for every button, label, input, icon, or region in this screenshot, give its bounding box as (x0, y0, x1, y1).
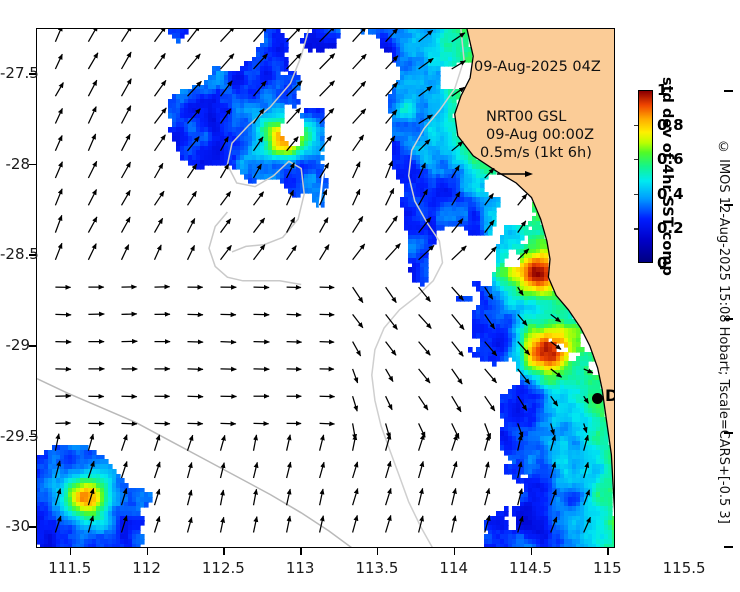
current-vector (188, 517, 192, 532)
x-axis-label: 115.5 (663, 559, 706, 577)
current-vector (188, 191, 197, 205)
current-vector (287, 190, 294, 205)
current-vector (353, 435, 356, 451)
current-vector (320, 54, 335, 69)
current-vector (122, 462, 127, 479)
map-overlay (37, 29, 615, 548)
current-vector (55, 314, 71, 315)
current-vector (551, 314, 561, 322)
outer-tick-5 (724, 546, 733, 548)
current-vector (452, 192, 460, 206)
x-axis-label: 112 (132, 559, 161, 577)
current-vector (188, 164, 197, 178)
x-axis-label: 112.5 (202, 559, 245, 577)
current-vector (287, 342, 302, 343)
x-tick (531, 548, 533, 555)
current-vector (353, 342, 361, 356)
current-vector (122, 52, 132, 69)
colorbar-tick (634, 228, 638, 229)
current-vector (320, 435, 324, 451)
current-vector (254, 29, 268, 42)
current-vector (254, 164, 262, 178)
current-vector (155, 108, 167, 124)
isobath-1000m (372, 29, 464, 548)
current-vector (254, 137, 264, 151)
current-vector (188, 219, 195, 233)
current-vector (386, 110, 397, 124)
current-vector (452, 435, 457, 451)
source-line-1: NRT00 GSL (486, 109, 566, 125)
x-axis-label: 114 (439, 559, 468, 577)
current-vector (419, 342, 431, 356)
source-line-3: 0.5m/s (1kt 6h) (480, 145, 592, 161)
current-vector (55, 83, 63, 97)
current-vector (518, 287, 524, 295)
dongara-marker-icon (592, 393, 603, 404)
current-vector (485, 396, 495, 411)
current-vector (518, 462, 522, 478)
current-vector (221, 29, 235, 42)
current-vector (551, 462, 555, 478)
dongara-label: Dongara (605, 386, 615, 405)
current-vector (452, 423, 459, 438)
current-vector (551, 435, 555, 451)
current-vector (122, 29, 132, 42)
current-vector (188, 81, 202, 96)
current-vector (254, 245, 265, 260)
colorbar-gradient (638, 90, 653, 263)
current-vector (122, 435, 127, 451)
current-vector (188, 54, 201, 69)
current-vector (155, 489, 160, 505)
current-vector (452, 369, 463, 384)
current-vector (155, 245, 162, 260)
current-vector (320, 489, 323, 505)
current-vector (584, 396, 589, 403)
current-vector (353, 314, 363, 327)
current-vector (551, 369, 562, 377)
current-vector (221, 517, 224, 532)
current-vector (254, 435, 257, 451)
current-vector (518, 314, 527, 325)
current-vector (452, 165, 460, 178)
current-vector (55, 136, 62, 151)
current-vector (188, 137, 200, 151)
isobath-1000m (37, 379, 353, 548)
current-vector (419, 163, 426, 178)
current-vector (518, 435, 522, 451)
current-vector (584, 490, 590, 505)
current-vector (386, 461, 391, 478)
current-vector (551, 342, 561, 350)
current-vector (386, 342, 396, 356)
current-vector (122, 217, 131, 233)
y-tick (29, 526, 36, 528)
current-vector (584, 462, 588, 478)
current-vector (320, 163, 329, 178)
current-vector (122, 162, 131, 178)
current-vector (55, 108, 62, 123)
outer-tick-3 (724, 318, 733, 320)
current-vector (88, 488, 93, 505)
current-vector (386, 216, 398, 233)
current-vector (188, 109, 201, 124)
x-tick (300, 548, 302, 555)
colorbar[interactable] (638, 90, 653, 263)
current-vector (122, 516, 127, 533)
current-vector (386, 515, 391, 532)
current-vector (485, 462, 489, 478)
current-vector (122, 314, 137, 315)
current-vector (419, 190, 428, 206)
current-vector (320, 29, 336, 42)
current-vector (122, 423, 138, 424)
current-vector (320, 245, 329, 260)
current-vector (485, 314, 495, 328)
current-vector (155, 163, 163, 178)
current-vector (88, 29, 97, 42)
current-vector (221, 423, 236, 424)
y-axis-label: -27.5 (0, 64, 30, 82)
current-vector (518, 221, 526, 233)
current-vector (419, 58, 434, 69)
current-vector (353, 109, 366, 124)
x-tick (607, 548, 609, 555)
current-vector (584, 435, 588, 451)
current-vector (353, 515, 358, 532)
current-vector (320, 109, 334, 124)
current-vector (419, 140, 430, 151)
current-vector (254, 218, 265, 233)
current-vector (55, 461, 60, 478)
current-vector (88, 516, 93, 533)
current-vector (353, 162, 360, 178)
current-vector (485, 369, 497, 383)
current-vector (551, 423, 554, 434)
current-vector (386, 314, 398, 329)
current-vector (551, 396, 558, 406)
current-vector (188, 245, 195, 259)
y-tick (29, 345, 36, 347)
current-vector (518, 249, 529, 260)
current-vector (353, 244, 365, 260)
current-vector (221, 81, 233, 96)
current-vector (386, 244, 401, 260)
current-vector (386, 369, 393, 382)
x-tick (454, 548, 456, 555)
current-vector (584, 369, 593, 373)
y-axis-label: -30 (0, 517, 30, 535)
current-vector (386, 188, 394, 205)
current-vector (287, 108, 301, 124)
current-vector (221, 219, 231, 233)
y-axis-label: -28.5 (0, 245, 30, 263)
current-vector (386, 56, 398, 69)
current-vector (353, 396, 358, 411)
current-vector (518, 489, 522, 506)
current-vector (353, 81, 366, 96)
current-vector (122, 190, 131, 205)
current-vector (452, 314, 464, 329)
current-vector (386, 29, 398, 42)
current-vector (452, 33, 465, 42)
current-vector (55, 243, 62, 260)
source-line-2: 09-Aug 00:00Z (486, 127, 594, 143)
current-vector (419, 30, 433, 41)
y-tick (29, 164, 36, 166)
current-vector (254, 462, 258, 478)
current-vector (353, 135, 364, 151)
current-vector (88, 107, 96, 124)
current-vector (155, 218, 163, 232)
current-vector (518, 516, 523, 532)
current-vector (254, 517, 257, 533)
x-tick (377, 548, 379, 555)
current-vector (122, 79, 132, 97)
current-vector (518, 194, 527, 205)
current-vector (353, 489, 358, 506)
current-vector (320, 516, 324, 533)
x-tick (147, 548, 149, 555)
current-vector (88, 134, 95, 151)
x-axis-label: 113 (286, 559, 315, 577)
current-vector (188, 435, 193, 451)
current-vector (88, 244, 96, 260)
x-axis-label: 114.5 (509, 559, 552, 577)
current-vector (55, 215, 61, 232)
current-vector (386, 396, 393, 410)
y-axis-label: -29 (0, 336, 30, 354)
current-vector (518, 369, 530, 384)
current-vector (353, 216, 363, 232)
current-vector (221, 435, 225, 450)
map-plot-area[interactable]: 09-Aug-2025 04Z NRT00 GSL 09-Aug 00:00Z … (36, 28, 615, 548)
current-vector (452, 61, 466, 69)
current-vector (485, 168, 494, 178)
current-vector (386, 161, 393, 178)
current-vector (452, 219, 463, 233)
current-vector (386, 287, 397, 303)
current-vector (485, 220, 494, 232)
current-vector (287, 435, 291, 451)
current-vector (254, 54, 268, 69)
current-vector (518, 342, 530, 355)
current-vector (518, 396, 527, 410)
outer-tick-1 (724, 90, 733, 92)
current-vector (55, 516, 60, 533)
current-vector (88, 217, 97, 233)
current-vector (485, 488, 490, 505)
current-vector (353, 369, 358, 383)
current-vector (287, 516, 290, 533)
vector-scale-arrow (497, 169, 533, 179)
current-vector (55, 189, 62, 206)
current-vector (155, 29, 166, 42)
isobath-200m (209, 212, 301, 285)
current-vector (155, 435, 160, 451)
current-vector (155, 516, 160, 532)
current-vector (55, 29, 62, 42)
current-vector (287, 246, 297, 260)
x-axis-label: 113.5 (355, 559, 398, 577)
current-vector (485, 435, 489, 451)
current-vector (155, 53, 166, 69)
current-vector (485, 342, 497, 356)
current-vector (221, 54, 234, 69)
current-vector (452, 287, 464, 300)
current-vector (122, 488, 127, 505)
x-axis-label: 111.5 (48, 559, 91, 577)
current-vector (485, 194, 494, 206)
current-vector (287, 489, 291, 505)
current-vector (254, 192, 264, 206)
current-vector (55, 489, 60, 506)
current-vector (287, 29, 301, 42)
date-annotation: 09-Aug-2025 04Z (474, 59, 601, 75)
current-vector (353, 189, 360, 205)
x-axis-label: 115 (593, 559, 622, 577)
current-vector (485, 423, 491, 438)
current-vector (55, 434, 59, 451)
current-vector (452, 488, 456, 505)
current-vector (188, 490, 192, 505)
current-vector (518, 423, 523, 437)
x-tick (70, 548, 72, 555)
current-vector (221, 164, 229, 178)
current-vector (188, 396, 204, 397)
figure-root: 09-Aug-2025 04Z NRT00 GSL 09-Aug 00:00Z … (0, 0, 740, 592)
current-vector (287, 81, 303, 96)
current-vector (551, 517, 557, 533)
current-vector (452, 462, 457, 479)
current-vector (88, 190, 96, 206)
current-vector (320, 423, 335, 424)
current-vector (88, 161, 96, 178)
current-vector (221, 192, 231, 206)
current-vector (188, 369, 204, 370)
current-vector (551, 490, 556, 506)
current-vector (452, 396, 461, 412)
current-vector (320, 462, 324, 478)
current-vector (188, 342, 204, 343)
current-vector (155, 80, 166, 96)
current-vector (88, 80, 96, 96)
y-axis-label: -29.5 (0, 427, 30, 445)
current-vector (419, 314, 432, 328)
current-vector (452, 246, 467, 260)
colorbar-tick (634, 194, 638, 195)
colorbar-tick (634, 159, 638, 160)
current-vector (254, 81, 267, 96)
current-vector (155, 191, 165, 205)
land-polygon (455, 29, 615, 548)
current-vector (386, 488, 391, 505)
current-vector (452, 342, 464, 357)
y-axis-label: -28 (0, 155, 30, 173)
colorbar-tick (634, 125, 638, 126)
x-tick (223, 548, 225, 555)
current-vector (221, 342, 237, 343)
current-vector (122, 245, 129, 260)
current-vector (320, 136, 332, 151)
current-vector (419, 86, 432, 96)
current-vector (287, 462, 291, 478)
outer-tick-4 (724, 432, 733, 434)
colorbar-title: std dev of 4hr SST comp (659, 90, 675, 263)
isobath-200m (227, 29, 308, 252)
current-vector (122, 134, 131, 151)
current-vector (55, 162, 62, 178)
current-vector (287, 314, 302, 315)
current-vector (221, 137, 229, 151)
current-vector (188, 29, 200, 42)
current-vector (254, 489, 257, 505)
current-vector (55, 54, 62, 69)
current-vector (419, 461, 424, 478)
current-vector (584, 517, 591, 532)
current-vector (419, 488, 423, 505)
current-vector (88, 53, 98, 69)
current-vector (419, 245, 434, 259)
credit-text: © IMOS 12-Aug-2025 15:08 Hobart; Tscale=… (716, 140, 731, 524)
current-vector (221, 109, 231, 124)
current-vector (485, 247, 497, 260)
current-vector (287, 163, 295, 178)
current-vector (485, 515, 490, 532)
current-vector (353, 54, 367, 69)
current-vector (221, 245, 232, 259)
current-vector (386, 136, 395, 151)
current-vector (254, 109, 265, 124)
current-vector (122, 106, 131, 124)
outer-tick-2 (724, 204, 733, 206)
current-vector (287, 137, 299, 151)
current-vector (88, 461, 94, 478)
current-vector (320, 342, 335, 343)
current-vector (419, 434, 424, 450)
current-vector (386, 82, 398, 96)
current-vector (155, 135, 166, 151)
current-vector (320, 81, 335, 96)
current-vector (452, 142, 463, 151)
current-vector (584, 423, 587, 432)
current-vector (485, 287, 493, 299)
current-vector (419, 369, 430, 383)
current-vector (353, 462, 358, 478)
current-vector (188, 463, 192, 479)
